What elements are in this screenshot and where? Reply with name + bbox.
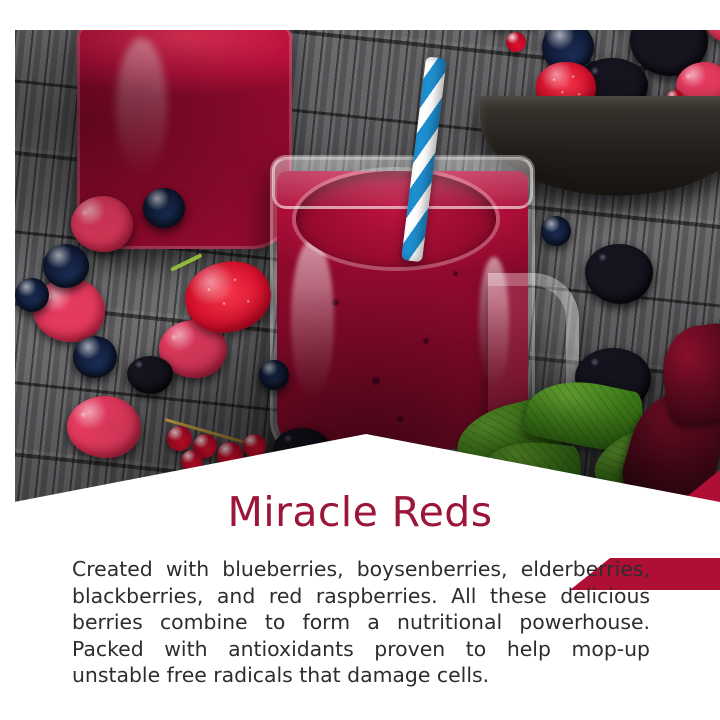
page-title: Miracle Reds (0, 488, 720, 536)
description-line: blackberries, and red raspberries. All t… (72, 583, 650, 610)
description-line: berries combine to form a nutritional po… (72, 609, 650, 636)
product-description: Created with blueberries, boysenberries,… (72, 556, 650, 689)
description-line: Packed with antioxidants proven to help … (72, 636, 650, 663)
product-card: Miracle Reds Created with blueberries, b… (0, 0, 720, 720)
description-line: Created with blueberries, boysenberries,… (72, 556, 650, 583)
description-line: unstable free radicals that damage cells… (72, 662, 650, 689)
